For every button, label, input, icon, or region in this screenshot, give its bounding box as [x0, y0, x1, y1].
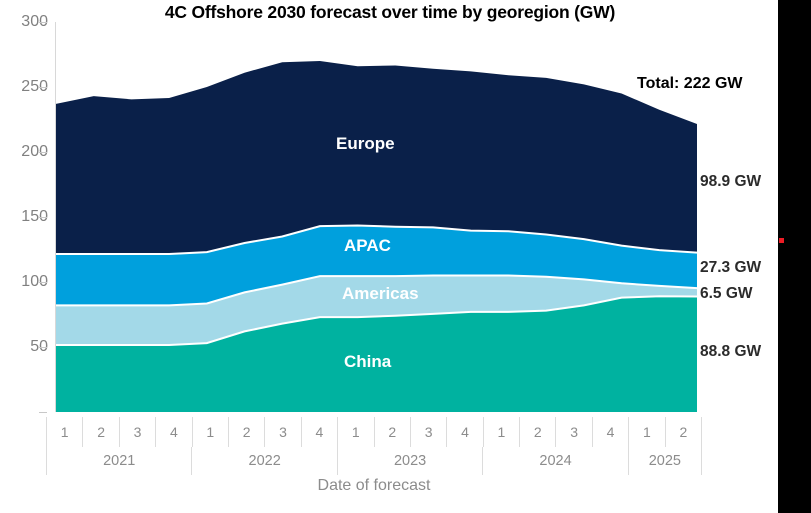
x-axis-year-cell: 2025	[628, 447, 702, 475]
x-axis-quarter-cell: 2	[665, 417, 702, 447]
x-axis-quarter-cell: 1	[46, 417, 82, 447]
x-axis-year-row: 20212022202320242025	[46, 447, 702, 475]
right-edge-band	[778, 0, 811, 513]
x-axis-quarter-cell: 2	[82, 417, 118, 447]
x-axis-quarter-cell: 3	[410, 417, 446, 447]
value-label-europe: 98.9 GW	[700, 173, 761, 191]
x-axis-year-cell: 2022	[191, 447, 336, 475]
x-axis-quarter-cell: 2	[228, 417, 264, 447]
y-tick-mark-200	[39, 152, 47, 153]
series-label-china: China	[344, 352, 391, 372]
x-axis-quarter-cell: 1	[337, 417, 373, 447]
y-tick-mark-50	[39, 347, 47, 348]
series-label-americas: Americas	[342, 284, 419, 304]
y-tick-mark-250	[39, 87, 47, 88]
x-axis-quarter-cell: 1	[483, 417, 519, 447]
value-label-apac: 27.3 GW	[700, 259, 761, 277]
red-marker-icon	[779, 238, 784, 243]
series-label-apac: APAC	[344, 236, 391, 256]
x-axis-quarter-cell: 1	[628, 417, 664, 447]
x-axis-quarter-cell: 3	[264, 417, 300, 447]
y-tick-mark-150	[39, 217, 47, 218]
x-axis-quarter-cell: 3	[119, 417, 155, 447]
y-axis-tick-labels: 50100150200250300	[8, 0, 48, 513]
x-axis-quarter-cell: 3	[555, 417, 591, 447]
y-tick-mark-300	[39, 22, 47, 23]
x-axis-quarter-cell: 4	[155, 417, 191, 447]
x-axis-quarter-cell: 2	[519, 417, 555, 447]
x-axis-quarter-cell: 2	[374, 417, 410, 447]
x-axis-quarter-cell: 4	[301, 417, 337, 447]
chart-title: 4C Offshore 2030 forecast over time by g…	[120, 2, 660, 23]
x-axis-year-cell: 2024	[482, 447, 627, 475]
x-axis-title: Date of forecast	[46, 477, 702, 495]
x-axis: 123412341234123412 20212022202320242025	[46, 417, 702, 475]
x-axis-year-cell: 2021	[46, 447, 191, 475]
value-label-china: 88.8 GW	[700, 343, 761, 361]
x-axis-quarter-cell: 4	[446, 417, 482, 447]
stacked-area-chart: 4C Offshore 2030 forecast over time by g…	[0, 0, 811, 513]
x-axis-quarter-cell: 4	[592, 417, 628, 447]
value-label-americas: 6.5 GW	[700, 285, 753, 303]
x-axis-quarter-row: 123412341234123412	[46, 417, 702, 447]
series-label-europe: Europe	[336, 134, 395, 154]
x-axis-quarter-cell: 1	[192, 417, 228, 447]
y-tick-mark-0	[39, 412, 47, 413]
x-axis-year-cell: 2023	[337, 447, 482, 475]
y-tick-mark-100	[39, 282, 47, 283]
total-annotation: Total: 222 GW	[637, 75, 743, 93]
